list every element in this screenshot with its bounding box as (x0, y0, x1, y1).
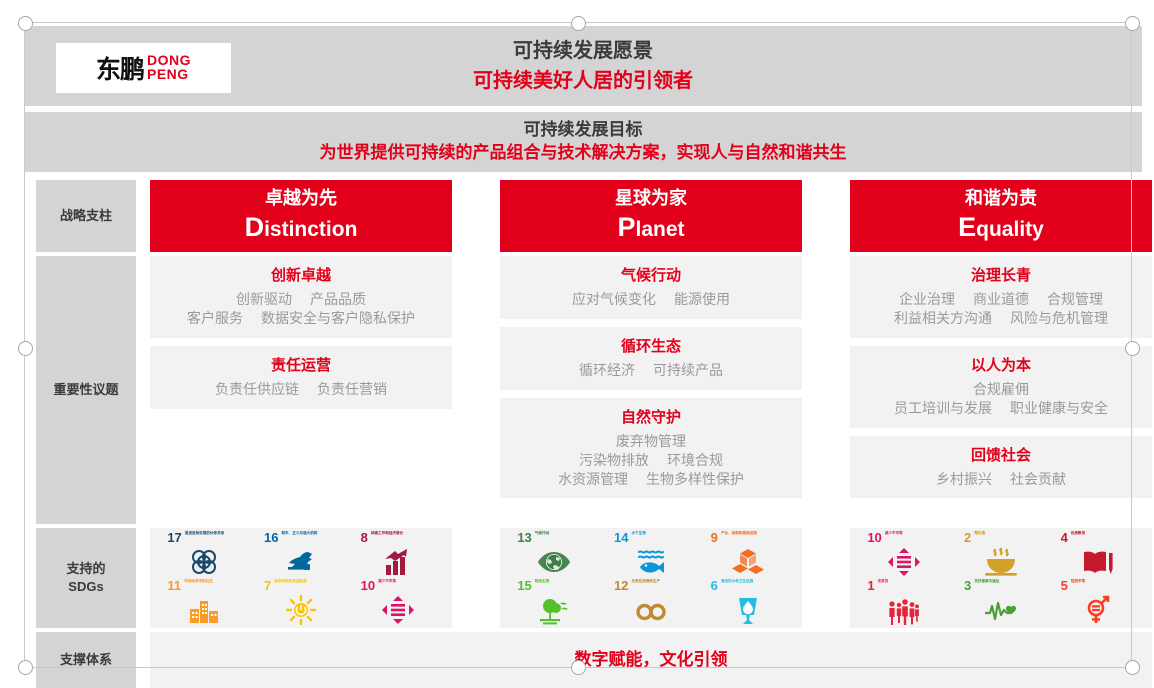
vision-statement: 可持续美好人居的引领者 (473, 66, 693, 96)
pillar-title-cn: 星球为家 (615, 187, 687, 210)
sdg-label: 负责任消费和生产 (631, 579, 660, 583)
sdg-label: 体面工作和经济增长 (371, 531, 403, 535)
material-topic-card[interactable]: 循环生态循环经济可持续产品 (500, 327, 802, 390)
sdg-column: 8体面工作和经济增长10减少不平等 (361, 530, 435, 626)
goal-label: 可持续发展目标 (524, 119, 643, 142)
sdg-group: 10减少不平等1无贫穷2零饥饿3良好健康与福祉4优质教育5性别平等 (850, 528, 1152, 628)
heartbeat-icon (964, 594, 1038, 625)
material-topic-item[interactable]: 乡村振兴 (927, 470, 1001, 489)
sdg-label: 产业、创新和基础设施 (721, 531, 757, 535)
rail-label-supported-sdgs: 支持的 SDGs (36, 528, 136, 628)
equality-arrows-icon (361, 594, 435, 625)
material-topic-row: 负责任供应链负责任营销 (156, 380, 446, 399)
sdg-label: 和平、正义与强大机构 (281, 531, 317, 535)
sdg-header: 16和平、正义与强大机构 (264, 531, 338, 546)
sdg-header: 10减少不平等 (867, 531, 941, 546)
pillar-header[interactable]: 星球为家Planet (500, 180, 802, 252)
sdg-column: 10减少不平等1无贫穷 (867, 530, 941, 626)
material-topic-card-title: 治理长青 (856, 264, 1146, 285)
sdg-number: 9 (711, 531, 718, 544)
sdg-label: 优质教育 (1071, 531, 1085, 535)
material-topic-card[interactable]: 治理长青企业治理商业道德合规管理利益相关方沟通风险与危机管理 (850, 256, 1152, 338)
sdg-header: 14水下生物 (614, 531, 688, 546)
material-topic-item[interactable]: 客户服务 (178, 309, 252, 328)
rail-sdg-line2: SDGs (66, 578, 105, 596)
material-topic-item[interactable]: 风险与危机管理 (1001, 309, 1117, 328)
material-topic-card-title: 气候行动 (506, 264, 796, 285)
sdg-group: 13气候行动15陆地生物14水下生物12负责任消费和生产9产业、创新和基础设施6… (500, 528, 802, 628)
sdg-badge[interactable]: 8体面工作和经济增长 (361, 531, 435, 577)
material-topic-card-title: 创新卓越 (156, 264, 446, 285)
support-statement: 数字赋能，文化引领 (575, 647, 728, 673)
sdg-header: 17促进目标实现的伙伴关系 (167, 531, 241, 546)
material-topic-card-title: 以人为本 (856, 354, 1146, 375)
sdg-column: 17促进目标实现的伙伴关系11可持续城市和社区 (167, 530, 241, 626)
material-topic-row: 员工培训与发展职业健康与安全 (856, 399, 1146, 418)
sdg-header: 13气候行动 (517, 531, 591, 546)
pillar-title-initial: D (245, 212, 265, 242)
sdg-header: 10减少不平等 (361, 579, 435, 594)
sdg-column: 4优质教育5性别平等 (1061, 530, 1135, 626)
book-icon (1061, 546, 1135, 577)
pillar-header[interactable]: 卓越为先Distinction (150, 180, 452, 252)
material-topic-item[interactable]: 能源使用 (665, 290, 739, 309)
pillar-title-cn: 和谐为责 (965, 187, 1037, 210)
city-icon (167, 594, 241, 625)
sdg-number: 6 (711, 579, 718, 592)
sdg-number: 8 (361, 531, 368, 544)
sdg-header: 9产业、创新和基础设施 (711, 531, 785, 546)
material-topic-item[interactable]: 循环经济 (570, 361, 644, 380)
sun-power-icon (264, 594, 338, 625)
sdg-column: 2零饥饿3良好健康与福祉 (964, 530, 1038, 626)
sdg-number: 2 (964, 531, 971, 544)
sdg-number: 11 (167, 579, 181, 592)
sdg-number: 10 (867, 531, 881, 544)
material-topic-item[interactable]: 合规雇佣 (964, 380, 1038, 399)
material-topic-row: 废弃物管理 (506, 432, 796, 451)
material-topic-row: 循环经济可持续产品 (506, 361, 796, 380)
sdg-label: 清洁饮水和卫生设施 (721, 579, 753, 583)
sdg-header: 1无贫穷 (867, 579, 941, 594)
sdg-number: 12 (614, 579, 628, 592)
people-icon (867, 594, 941, 625)
sdg-badge[interactable]: 10减少不平等 (361, 579, 435, 625)
sdg-group: 17促进目标实现的伙伴关系11可持续城市和社区16和平、正义与强大机构7经济适用… (150, 528, 452, 628)
sdg-label: 可持续城市和社区 (184, 579, 213, 583)
sdg-label: 气候行动 (535, 531, 549, 535)
pillar-title-cn: 卓越为先 (265, 187, 337, 210)
sdg-number: 7 (264, 579, 271, 592)
goal-statement: 为世界提供可持续的产品组合与技术解决方案，实现人与自然和谐共生 (320, 142, 847, 165)
material-topic-item[interactable]: 员工培训与发展 (885, 399, 1001, 418)
sdg-label: 无贫穷 (878, 579, 889, 583)
rail-label-strategic-pillars: 战略支柱 (36, 180, 136, 252)
sdg-label: 性别平等 (1071, 579, 1085, 583)
sdg-label: 经济适用的清洁能源 (274, 579, 306, 583)
pillar-title-en: Distinction (245, 211, 358, 245)
material-topic-card[interactable]: 气候行动应对气候变化能源使用 (500, 256, 802, 319)
material-topic-item[interactable]: 利益相关方沟通 (885, 309, 1001, 328)
vision-band: 东鹏 DONG PENG 可持续发展愿景 可持续美好人居的引领者 (24, 26, 1142, 106)
partnership-icon (167, 546, 241, 577)
sdg-label: 促进目标实现的伙伴关系 (185, 531, 225, 535)
sdg-badge[interactable]: 2零饥饿 (964, 531, 1038, 577)
sdg-label: 减少不平等 (885, 531, 903, 535)
sdg-number: 17 (167, 531, 181, 544)
material-topic-item[interactable]: 合规管理 (1038, 290, 1112, 309)
growth-chart-icon (361, 546, 435, 577)
pillar-title-initial: E (958, 212, 976, 242)
sdg-header: 15陆地生物 (517, 579, 591, 594)
equality-arrows-icon (867, 546, 941, 577)
material-topic-row: 乡村振兴社会贡献 (856, 470, 1146, 489)
material-topic-card[interactable]: 自然守护废弃物管理污染物排放环境合规水资源管理生物多样性保护 (500, 398, 802, 499)
material-topic-item[interactable]: 负责任营销 (308, 380, 396, 399)
material-topic-row: 污染物排放环境合规 (506, 451, 796, 470)
rail-topics-text: 重要性议题 (53, 381, 118, 399)
pillar-title-initial: P (617, 212, 635, 242)
material-topic-item[interactable]: 污染物排放 (570, 451, 658, 470)
rail-pillar-text: 战略支柱 (60, 207, 112, 225)
material-topic-card[interactable]: 以人为本合规雇佣员工培训与发展职业健康与安全 (850, 346, 1152, 428)
sdg-number: 3 (964, 579, 971, 592)
material-topic-card-title: 回馈社会 (856, 444, 1146, 465)
material-topic-card[interactable]: 责任运营负责任供应链负责任营销 (150, 346, 452, 409)
rail-label-support-system: 支撑体系 (36, 632, 136, 688)
material-topics-group: 气候行动应对气候变化能源使用循环生态循环经济可持续产品自然守护废弃物管理污染物排… (500, 256, 802, 506)
sdg-badge[interactable]: 12负责任消费和生产 (614, 579, 688, 625)
sdg-badge[interactable]: 16和平、正义与强大机构 (264, 531, 338, 577)
material-topic-card-title: 自然守护 (506, 406, 796, 427)
rail-system-text: 支撑体系 (60, 651, 112, 669)
sdg-label: 零饥饿 (974, 531, 985, 535)
sdg-badge[interactable]: 3良好健康与福祉 (964, 579, 1038, 625)
sdg-badge[interactable]: 14水下生物 (614, 531, 688, 577)
material-topic-row: 客户服务数据安全与客户隐私保护 (156, 309, 446, 328)
sdg-header: 2零饥饿 (964, 531, 1038, 546)
vision-label: 可持续发展愿景 (513, 36, 653, 66)
material-topic-item[interactable]: 水资源管理 (549, 470, 637, 489)
material-topic-card-title: 循环生态 (506, 335, 796, 356)
sdg-number: 4 (1061, 531, 1068, 544)
sdg-label: 水下生物 (631, 531, 645, 535)
material-topic-item[interactable]: 职业健康与安全 (1001, 399, 1117, 418)
sdg-header: 3良好健康与福祉 (964, 579, 1038, 594)
rail-label-material-topics: 重要性议题 (36, 256, 136, 524)
sdg-number: 10 (361, 579, 375, 592)
sdg-badge[interactable]: 5性别平等 (1061, 579, 1135, 625)
rail-sdg-line1: 支持的 (66, 560, 105, 578)
material-topic-card-title: 责任运营 (156, 354, 446, 375)
pillar-title-rest: istinction (264, 218, 357, 241)
sdg-header: 4优质教育 (1061, 531, 1135, 546)
material-topic-row: 合规雇佣 (856, 380, 1146, 399)
sdg-number: 5 (1061, 579, 1068, 592)
material-topic-item[interactable]: 社会贡献 (1001, 470, 1075, 489)
sdg-label: 陆地生物 (535, 579, 549, 583)
pillar-title-en: Equality (958, 211, 1044, 245)
tree-icon (517, 594, 591, 625)
material-topic-item[interactable]: 废弃物管理 (607, 432, 695, 451)
material-topic-item[interactable]: 生物多样性保护 (637, 470, 753, 489)
sdg-badge[interactable]: 17促进目标实现的伙伴关系 (167, 531, 241, 577)
sdg-number: 13 (517, 531, 531, 544)
goal-band: 可持续发展目标 为世界提供可持续的产品组合与技术解决方案，实现人与自然和谐共生 (24, 112, 1142, 172)
bowl-icon (964, 546, 1038, 577)
sdg-badge[interactable]: 13气候行动 (517, 531, 591, 577)
gender-equality-icon (1061, 594, 1135, 625)
sdg-label: 减少不平等 (378, 579, 396, 583)
slide-canvas: 东鹏 DONG PENG 可持续发展愿景 可持续美好人居的引领者 可持续发展目标… (14, 10, 1142, 678)
sdg-header: 11可持续城市和社区 (167, 579, 241, 594)
pillar-title-rest: quality (976, 218, 1044, 241)
sdg-badge[interactable]: 11可持续城市和社区 (167, 579, 241, 625)
sdg-number: 14 (614, 531, 628, 544)
sdg-column: 16和平、正义与强大机构7经济适用的清洁能源 (264, 530, 338, 626)
sdg-column: 9产业、创新和基础设施6清洁饮水和卫生设施 (711, 530, 785, 626)
sdg-label: 良好健康与福祉 (974, 579, 999, 583)
material-topic-row: 应对气候变化能源使用 (506, 290, 796, 309)
sdg-badge[interactable]: 9产业、创新和基础设施 (711, 531, 785, 577)
material-topic-item[interactable]: 负责任供应链 (206, 380, 308, 399)
material-topic-item[interactable]: 应对气候变化 (563, 290, 665, 309)
material-topic-item[interactable]: 企业治理 (890, 290, 964, 309)
material-topic-item[interactable]: 可持续产品 (644, 361, 732, 380)
infinity-icon (614, 594, 688, 625)
material-topics-group: 创新卓越创新驱动产品品质客户服务数据安全与客户隐私保护责任运营负责任供应链负责任… (150, 256, 452, 417)
industry-cubes-icon (711, 546, 785, 577)
climate-eye-icon (517, 546, 591, 577)
pillar-header[interactable]: 和谐为责Equality (850, 180, 1152, 252)
sdg-header: 12负责任消费和生产 (614, 579, 688, 594)
pillar-title-rest: lanet (636, 218, 685, 241)
sdg-header: 8体面工作和经济增长 (361, 531, 435, 546)
sdg-number: 1 (867, 579, 874, 592)
material-topics-group: 治理长青企业治理商业道德合规管理利益相关方沟通风险与危机管理以人为本合规雇佣员工… (850, 256, 1152, 506)
sdg-badge[interactable]: 4优质教育 (1061, 531, 1135, 577)
peace-dove-icon (264, 546, 338, 577)
material-topic-row: 水资源管理生物多样性保护 (506, 470, 796, 489)
material-topic-row: 利益相关方沟通风险与危机管理 (856, 309, 1146, 328)
material-topic-card[interactable]: 回馈社会乡村振兴社会贡献 (850, 436, 1152, 499)
sdg-badge[interactable]: 6清洁饮水和卫生设施 (711, 579, 785, 625)
material-topic-item[interactable]: 创新驱动 (227, 290, 301, 309)
vision-text-block: 可持续发展愿景 可持续美好人居的引领者 (24, 26, 1142, 106)
sdg-badge[interactable]: 10减少不平等 (867, 531, 941, 577)
support-system-band: 数字赋能，文化引领 (150, 632, 1152, 688)
material-topic-item[interactable]: 产品品质 (301, 290, 375, 309)
sdg-badge[interactable]: 1无贫穷 (867, 579, 941, 625)
fish-icon (614, 546, 688, 577)
material-topic-item[interactable]: 商业道德 (964, 290, 1038, 309)
sdg-badge[interactable]: 7经济适用的清洁能源 (264, 579, 338, 625)
material-topic-row: 创新驱动产品品质 (156, 290, 446, 309)
material-topic-item[interactable]: 环境合规 (658, 451, 732, 470)
water-glass-icon (711, 594, 785, 625)
pillar-title-en: Planet (617, 211, 684, 245)
sdg-number: 16 (264, 531, 278, 544)
material-topic-item[interactable]: 数据安全与客户隐私保护 (252, 309, 424, 328)
sdg-header: 6清洁饮水和卫生设施 (711, 579, 785, 594)
sdg-badge[interactable]: 15陆地生物 (517, 579, 591, 625)
sdg-header: 5性别平等 (1061, 579, 1135, 594)
material-topic-row: 企业治理商业道德合规管理 (856, 290, 1146, 309)
sdg-header: 7经济适用的清洁能源 (264, 579, 338, 594)
sdg-number: 15 (517, 579, 531, 592)
sdg-column: 13气候行动15陆地生物 (517, 530, 591, 626)
material-topic-card[interactable]: 创新卓越创新驱动产品品质客户服务数据安全与客户隐私保护 (150, 256, 452, 338)
sdg-column: 14水下生物12负责任消费和生产 (614, 530, 688, 626)
